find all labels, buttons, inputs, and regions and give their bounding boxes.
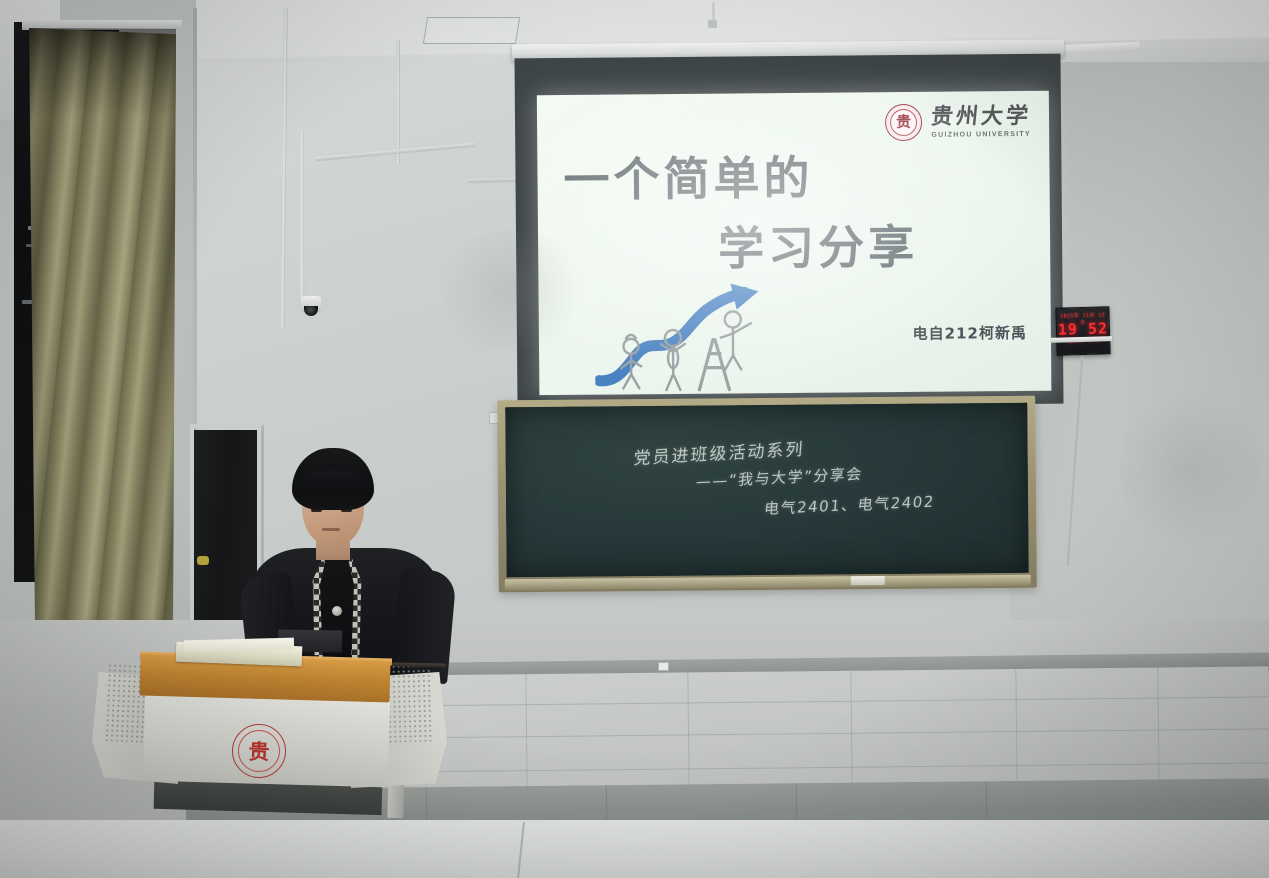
rising-arrow-svg — [594, 281, 791, 393]
chalk-eraser[interactable] — [851, 576, 885, 585]
university-name-en: GUIZHOU UNIVERSITY — [931, 130, 1031, 138]
front-floor — [0, 820, 1269, 878]
wall-conduit — [396, 40, 400, 165]
ceiling-vent — [423, 17, 520, 44]
led-wall-clock: 2025年 11月 13日 19 52 星期四 21℃ — [1055, 306, 1110, 355]
ceiling-conduit-tip — [708, 20, 717, 28]
door-handle[interactable] — [197, 556, 209, 565]
university-name-cn: 贵州大学 — [930, 105, 1032, 129]
blackboard-surface: 党员进班级活动系列 ——“我与大学”分享会 电气2401、电气2402 — [505, 403, 1028, 578]
wall-smudge — [1120, 380, 1260, 560]
presentation-slide: 贵 贵州大学 GUIZHOU UNIVERSITY 一个简单的 学习分享 电自2… — [537, 91, 1052, 395]
slide-author: 电自212柯新禹 — [912, 322, 1026, 344]
presenter-badge — [332, 606, 342, 616]
slide-title-line-2: 学习分享 — [718, 224, 918, 272]
university-name-block: 贵州大学 GUIZHOU UNIVERSITY — [931, 105, 1031, 138]
chalk-line-3: 电气2401、电气2402 — [763, 490, 936, 519]
chalk-line-2: ——“我与大学”分享会 — [695, 463, 863, 492]
chalk-tray — [505, 575, 1031, 591]
lectern: 贵 — [92, 652, 447, 812]
projector-screen: 贵 贵州大学 GUIZHOU UNIVERSITY 一个简单的 学习分享 电自2… — [514, 54, 1063, 409]
presenter-fringe — [294, 470, 372, 500]
chalk-line-1: 党员进班级活动系列 — [633, 435, 805, 469]
wall-conduit — [300, 130, 304, 300]
window-curtain — [26, 28, 176, 648]
seal-glyph: 贵 — [896, 115, 911, 130]
lectern-seal-glyph: 贵 — [248, 740, 270, 762]
university-logo: 贵 贵州大学 GUIZHOU UNIVERSITY — [885, 103, 1031, 141]
rising-arrow-illustration — [594, 281, 791, 393]
power-outlet[interactable] — [658, 662, 669, 671]
curtain-shadow — [26, 28, 176, 118]
presenter-mouth — [322, 528, 340, 531]
university-seal-icon: 贵 — [885, 104, 922, 141]
blackboard: 党员进班级活动系列 ——“我与大学”分享会 电气2401、电气2402 — [497, 396, 1037, 593]
slide-title-line-1: 一个简单的 — [563, 155, 813, 203]
wall-smudge — [430, 230, 590, 350]
lecture-hall-scene: 贵 贵州大学 GUIZHOU UNIVERSITY 一个简单的 学习分享 电自2… — [0, 0, 1269, 878]
